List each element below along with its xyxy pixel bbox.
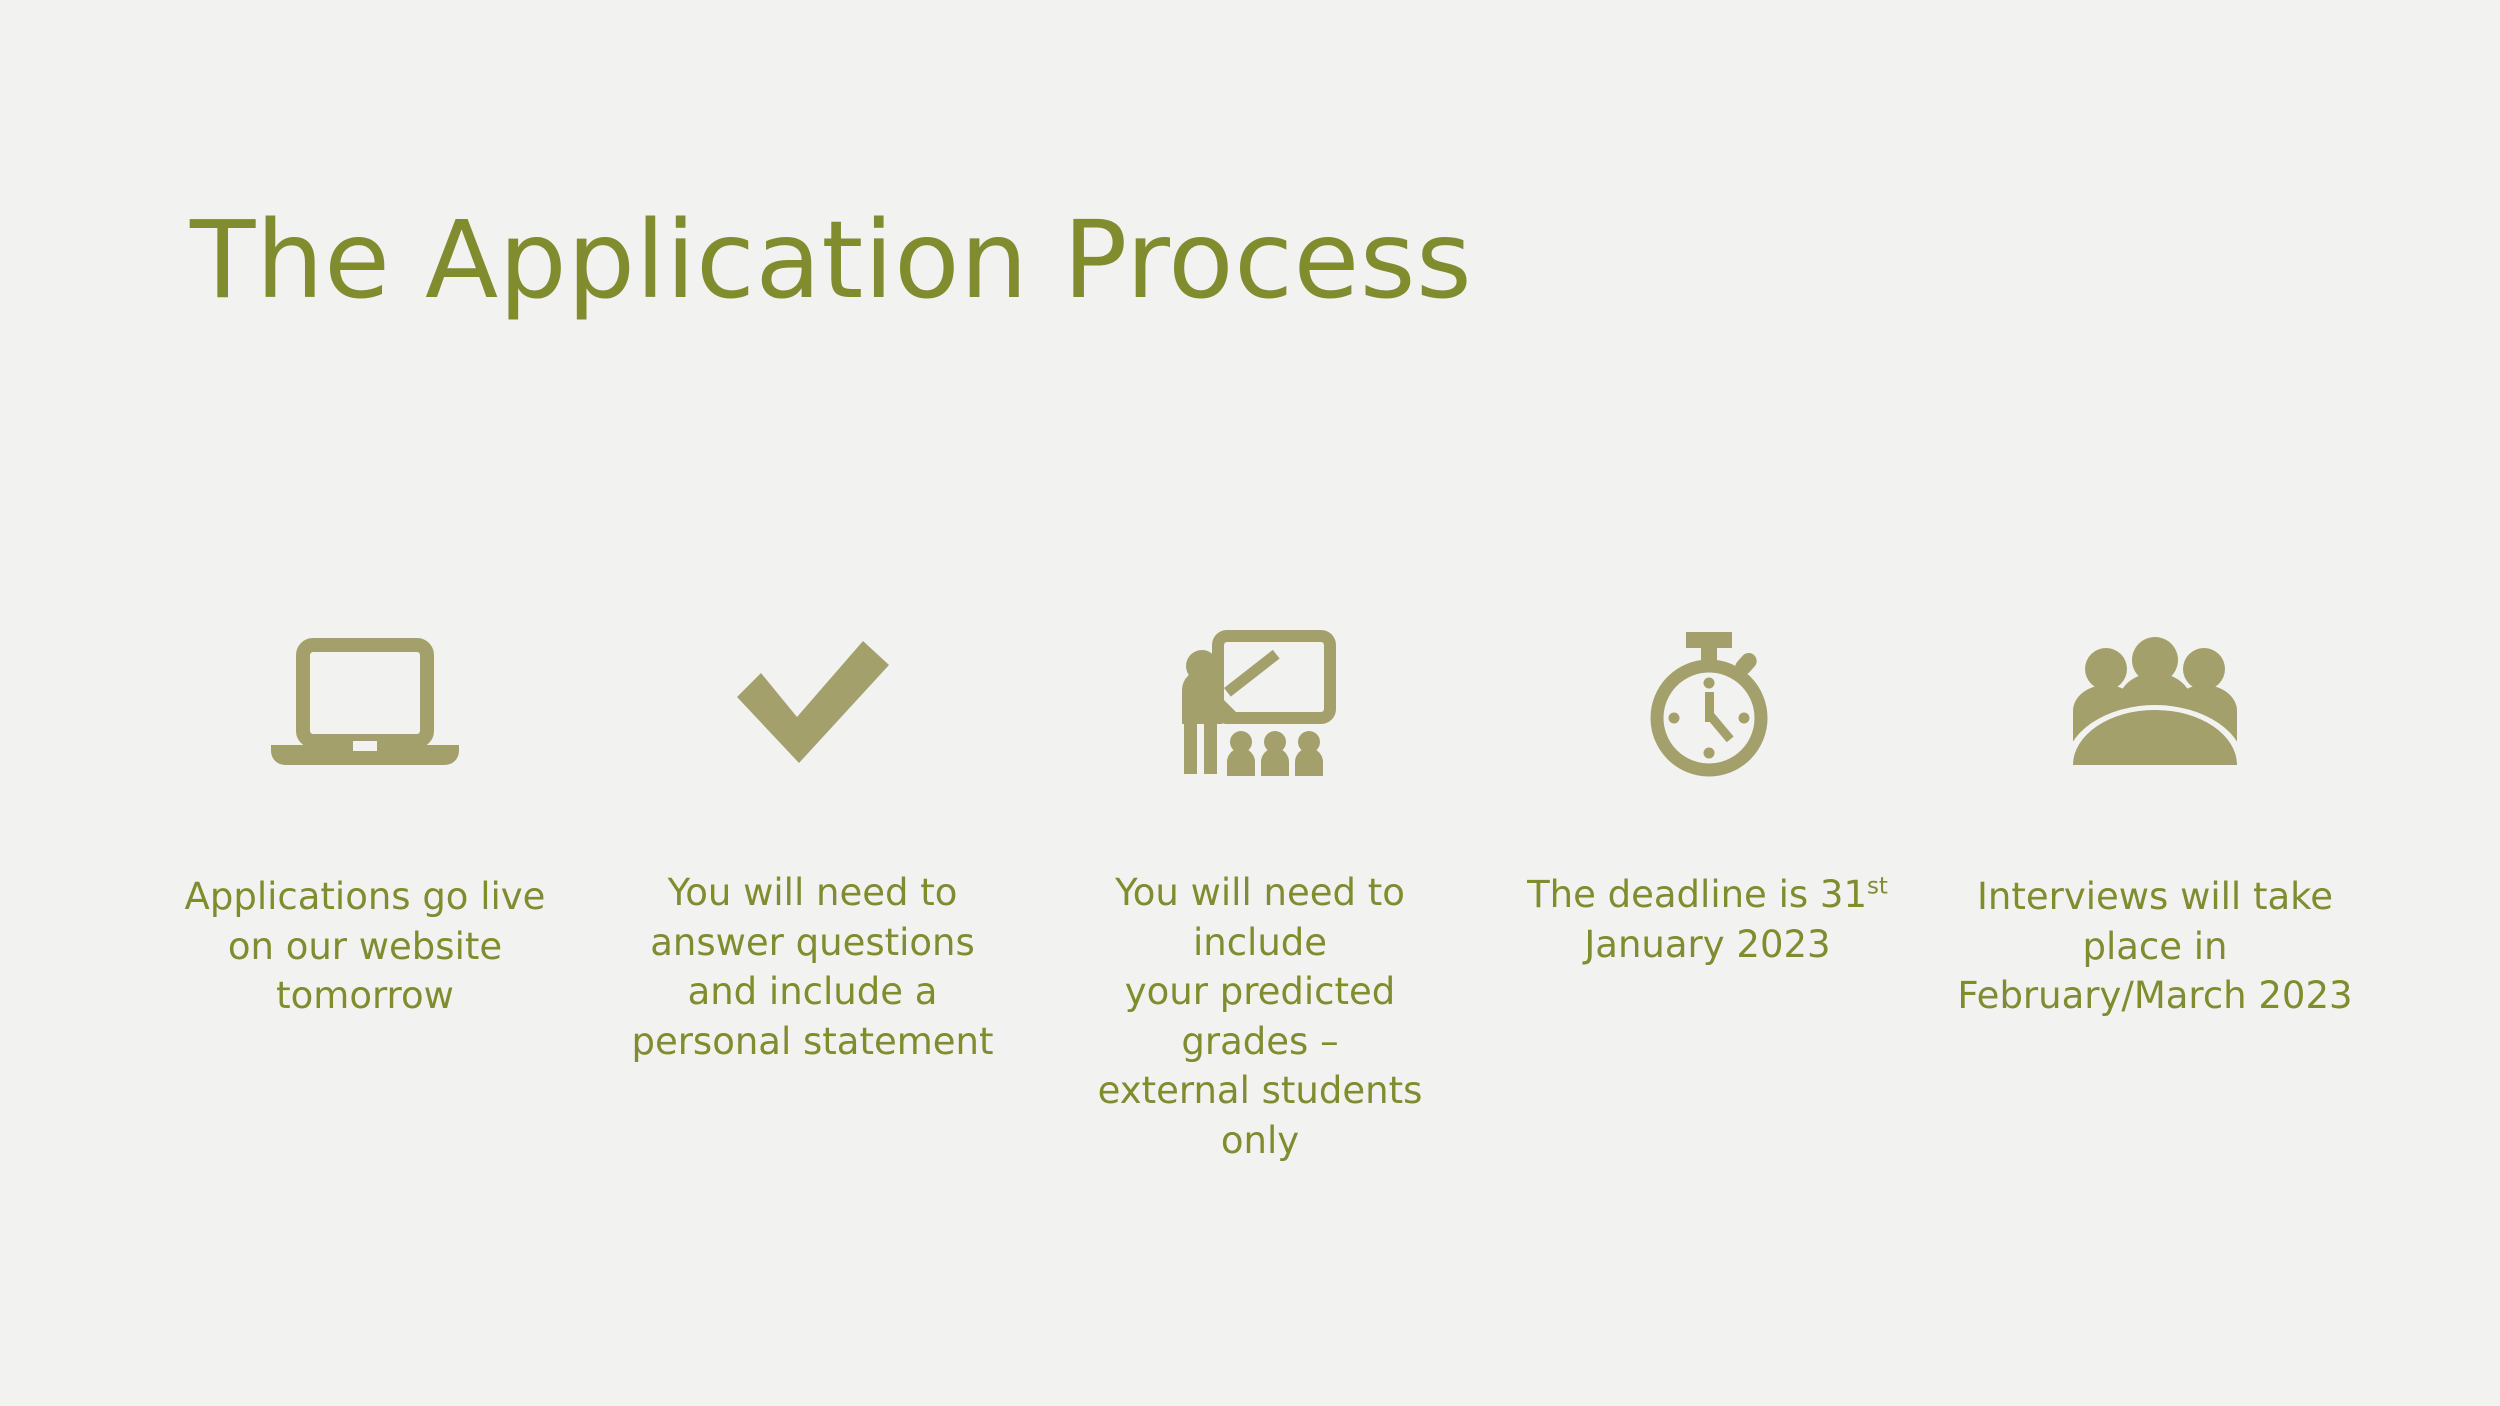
step-caption-lead: The deadline is 31	[1527, 873, 1867, 916]
people-group-icon	[2055, 630, 2255, 780]
process-step-1: Applications go live on our website tomo…	[150, 630, 580, 1021]
step-caption-line-3: external students only	[1098, 1069, 1423, 1162]
step-caption: Applications go live on our website tomo…	[165, 872, 565, 1021]
step-caption: You will need to include your predicted …	[1060, 868, 1460, 1165]
slide: The Application Process Applications go …	[0, 0, 2500, 1406]
stopwatch-icon	[1608, 630, 1808, 780]
process-step-3: You will need to include your predicted …	[1045, 630, 1475, 1165]
page-title: The Application Process	[190, 200, 1472, 323]
ordinal-suffix: st	[1867, 874, 1888, 900]
teacher-presentation-icon	[1160, 630, 1360, 780]
process-step-5: Interviews will take place in February/M…	[1940, 630, 2370, 1021]
process-steps-row: Applications go live on our website tomo…	[150, 630, 2370, 1165]
step-caption: Interviews will take place in February/M…	[1955, 872, 2355, 1021]
step-caption: The deadline is 31st January 2023	[1508, 870, 1908, 969]
checkmark-icon	[713, 630, 913, 780]
step-caption-line-2: your predicted grades –	[1125, 970, 1395, 1063]
step-caption-line-1: You will need to include	[1115, 871, 1405, 964]
step-caption-tail: January 2023	[1584, 923, 1830, 966]
step-caption: You will need to answer questions and in…	[613, 868, 1013, 1066]
process-step-2: You will need to answer questions and in…	[598, 630, 1028, 1066]
laptop-icon	[265, 630, 465, 780]
process-step-4: The deadline is 31st January 2023	[1493, 630, 1923, 969]
